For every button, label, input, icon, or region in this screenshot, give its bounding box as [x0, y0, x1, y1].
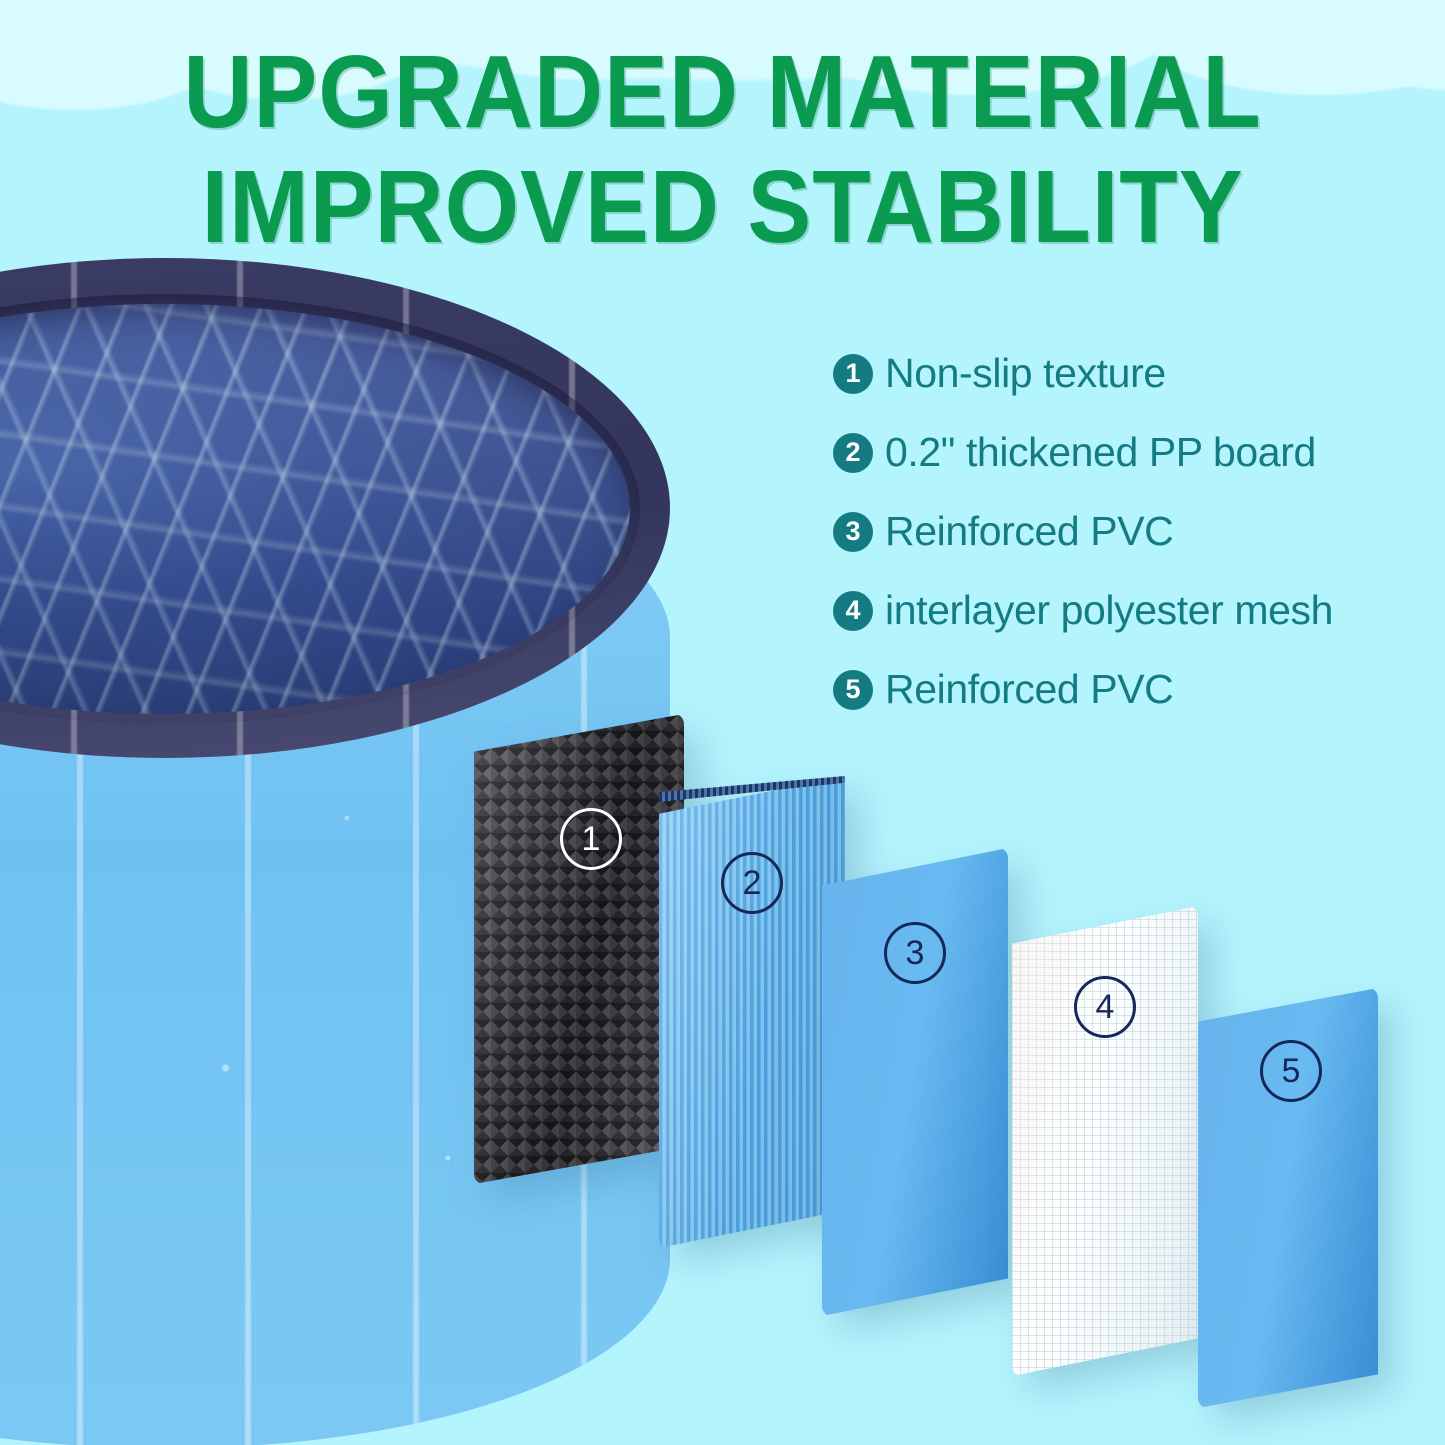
feature-badge-icon: 4: [833, 591, 873, 631]
layer-texture-pvc: [822, 848, 1008, 1316]
feature-item-3: 3 Reinforced PVC: [833, 492, 1433, 571]
layer-panel-5: 5: [1198, 988, 1378, 1408]
feature-item-1: 1 Non-slip texture: [833, 334, 1433, 413]
feature-item-2: 2 0.2" thickened PP board: [833, 413, 1433, 492]
layer-panel-1: 1: [474, 714, 684, 1184]
feature-label: Non-slip texture: [885, 350, 1166, 397]
layer-panel-3: 3: [822, 848, 1008, 1316]
layer-number-badge: 5: [1260, 1040, 1322, 1102]
layer-number-badge: 4: [1074, 976, 1136, 1038]
feature-item-5: 5 Reinforced PVC: [833, 650, 1433, 729]
feature-label: Reinforced PVC: [885, 666, 1173, 713]
feature-label: 0.2" thickened PP board: [885, 429, 1316, 476]
feature-label: interlayer polyester mesh: [885, 587, 1333, 634]
feature-item-4: 4 interlayer polyester mesh: [833, 571, 1433, 650]
layer-panel-4: 4: [1012, 906, 1198, 1376]
feature-badge-icon: 5: [833, 670, 873, 710]
feature-badge-icon: 3: [833, 512, 873, 552]
cloud-puff: [760, 0, 1190, 95]
infographic-canvas: UPGRADED MATERIAL IMPROVED STABILITY 1 N…: [0, 0, 1445, 1445]
feature-label: Reinforced PVC: [885, 508, 1173, 555]
headline-line-2: IMPROVED STABILITY: [51, 149, 1395, 264]
layer-number-badge: 2: [721, 852, 783, 914]
layer-texture-non-slip: [474, 714, 684, 1184]
feature-list: 1 Non-slip texture 2 0.2" thickened PP b…: [833, 334, 1433, 729]
feature-badge-icon: 1: [833, 354, 873, 394]
layer-number-badge: 3: [884, 922, 946, 984]
layer-panel-2: 2: [659, 776, 845, 1248]
layer-texture-pp-board: [659, 776, 845, 1248]
feature-badge-icon: 2: [833, 433, 873, 473]
layer-number-badge: 1: [560, 808, 622, 870]
